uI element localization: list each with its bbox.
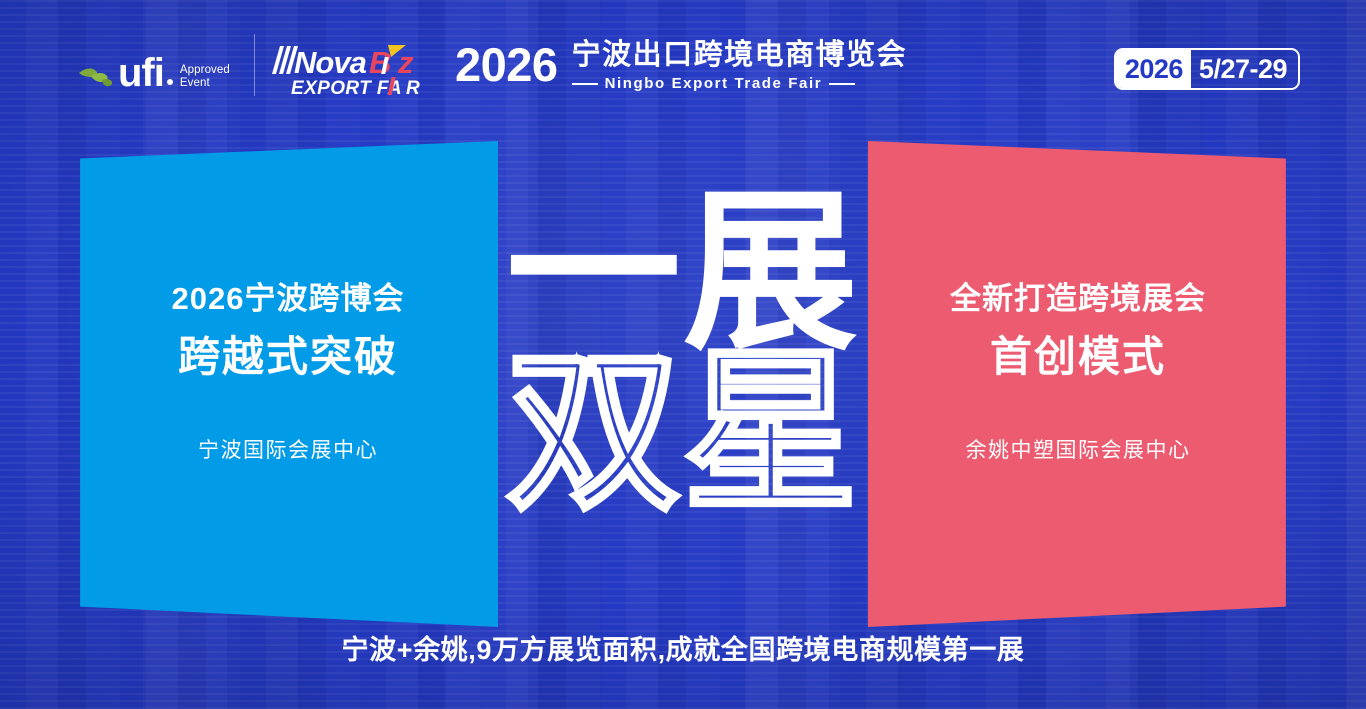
panel-left-heading: 2026宁波跨博会 — [172, 283, 405, 314]
ufi-leaf-mark-icon — [78, 64, 120, 90]
fair-title-rule-right — [829, 83, 855, 85]
header-divider — [254, 34, 255, 96]
svg-text:R: R — [406, 78, 420, 99]
svg-text:B: B — [369, 45, 391, 80]
ufi-logo: ufi Approved Event — [78, 46, 230, 90]
novabiz-logo-icon: Nova B z EXPORT FA R — [270, 42, 430, 100]
banner-header: ufi Approved Event Nova B z — [0, 0, 1366, 120]
date-badge: 2026 5/27-29 — [1114, 48, 1300, 90]
fair-title: 2026 宁波出口跨境电商博览会 Ningbo Export Trade Fai… — [455, 40, 907, 92]
promo-banner: ufi Approved Event Nova B z — [0, 0, 1366, 709]
fair-title-year: 2026 — [455, 40, 558, 90]
date-badge-year: 2026 — [1116, 50, 1191, 88]
footer-tagline: 宁波+余姚,9万方展览面积,成就全国跨境电商规模第一展 — [0, 628, 1366, 667]
ufi-sub-line2: Event — [180, 77, 210, 89]
novabiz-logo: Nova B z EXPORT FA R — [270, 42, 430, 100]
panel-left-venue: 宁波国际会展中心 — [198, 440, 378, 461]
svg-text:z: z — [397, 45, 414, 80]
ufi-wordmark: ufi — [118, 56, 164, 90]
fair-title-chinese: 宁波出口跨境电商博览会 — [572, 40, 908, 71]
venue-panel-ningbo: 2026宁波跨博会 跨越式突破 宁波国际会展中心 — [78, 141, 498, 627]
panel-right-venue: 余姚中塑国际会展中心 — [966, 440, 1191, 461]
fair-title-rule-left — [572, 83, 598, 85]
venue-panel-yuyao: 全新打造跨境展会 首创模式 余姚中塑国际会展中心 — [868, 141, 1288, 627]
svg-text:Nova: Nova — [294, 45, 367, 80]
panel-right-heading: 全新打造跨境展会 — [950, 283, 1206, 314]
fair-title-english-row: Ningbo Export Trade Fair — [572, 75, 908, 92]
fair-title-english: Ningbo Export Trade Fair — [605, 75, 823, 92]
ufi-approved-event-label: Approved Event — [180, 64, 230, 89]
svg-text:EXPORT FA: EXPORT FA — [291, 78, 402, 99]
fair-title-text: 宁波出口跨境电商博览会 Ningbo Export Trade Fair — [572, 40, 908, 92]
panel-right-main: 首创模式 — [990, 336, 1166, 378]
ufi-sub-line1: Approved — [180, 64, 230, 76]
panel-left-main: 跨越式突破 — [178, 336, 398, 378]
ufi-dot-icon — [167, 79, 173, 85]
date-badge-range: 5/27-29 — [1191, 50, 1298, 88]
